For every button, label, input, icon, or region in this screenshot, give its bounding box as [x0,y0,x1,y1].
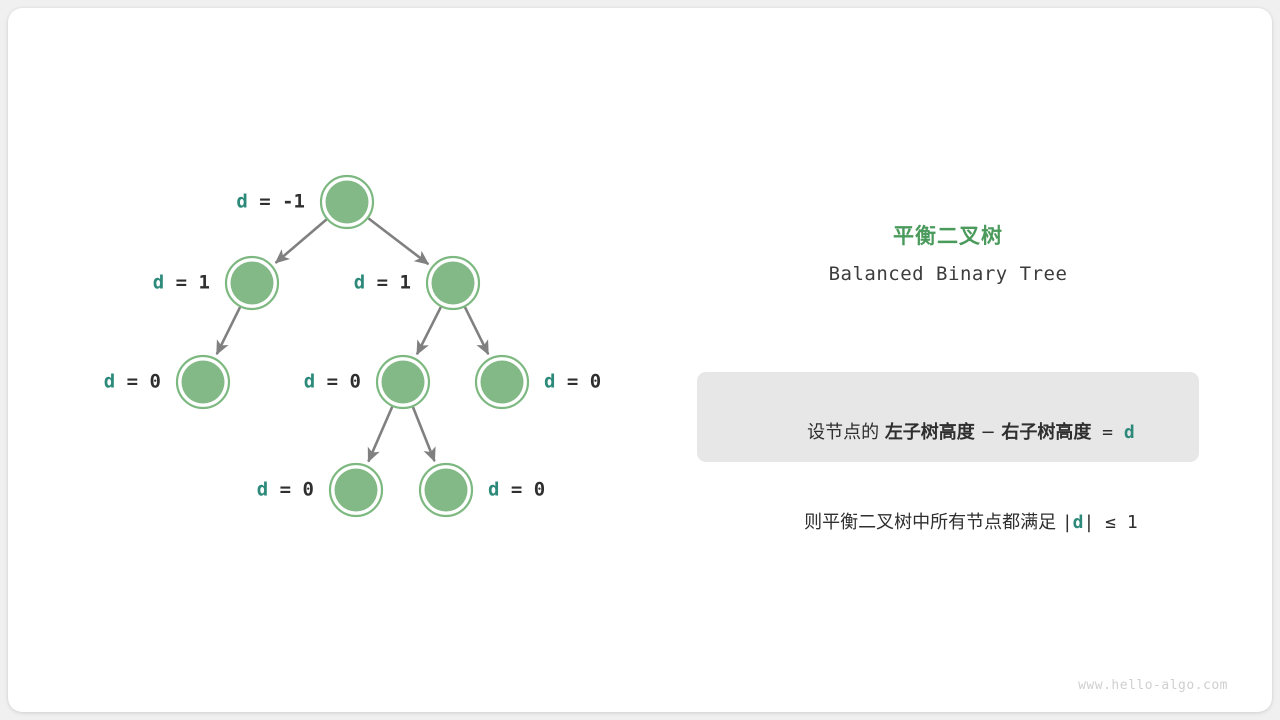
figure-card: d = -1d = 1d = 1d = 0d = 0d = 0d = 0d = … [8,8,1272,712]
definition-box: 设节点的 左子树高度 − 右子树高度 = d 则平衡二叉树中所有节点都满足 |d… [697,372,1199,462]
tree-edge [368,407,392,462]
tree-edge [417,307,441,354]
equals-operator: = [1091,422,1124,443]
tree-edge [465,307,488,354]
abs-bar-open: | [1062,512,1073,533]
tree-node[interactable] [425,469,468,512]
definition-line-2: 则平衡二叉树中所有节点都满足 |d| ≤ 1 [697,478,1199,568]
title-panel: 平衡二叉树 Balanced Binary Tree [697,222,1199,285]
constraint-prefix: 则平衡二叉树中所有节点都满足 [804,512,1062,533]
tree-node[interactable] [335,469,378,512]
tree-node[interactable] [231,262,274,305]
definition-line-1: 设节点的 左子树高度 − 右子树高度 = d [697,388,1199,478]
left-subtree-height-term: 左子树高度 [885,422,975,443]
node-balance-factor-label: d = 1 [153,274,210,293]
tree-nodes [177,176,528,516]
definition-prefix: 设节点的 [807,422,885,443]
node-balance-factor-label: d = 1 [354,274,411,293]
page-subtitle: Balanced Binary Tree [697,263,1199,285]
tree-edge [413,407,435,461]
balance-factor-symbol: d [236,191,247,213]
balance-factor-symbol: d [153,272,164,294]
node-balance-factor-label: d = 0 [257,481,314,500]
figure-stage: d = -1d = 1d = 1d = 0d = 0d = 0d = 0d = … [8,8,1272,712]
balance-factor-value: = 0 [499,479,545,501]
node-balance-factor-label: d = 0 [304,373,361,392]
tree-edge [276,220,327,263]
balance-factor-symbol: d [1124,422,1135,443]
tree-edge [217,307,240,354]
right-subtree-height-term: 右子树高度 [1001,422,1091,443]
tree-edges [217,218,488,461]
node-balance-factor-label: d = -1 [236,193,305,212]
balance-factor-symbol: d [1073,512,1084,533]
constraint-bound: ≤ 1 [1094,512,1137,533]
tree-node[interactable] [432,262,475,305]
balance-factor-value: = -1 [248,191,305,213]
balance-factor-value: = 0 [115,371,161,393]
binary-tree-diagram [8,8,1272,712]
tree-node[interactable] [182,361,225,404]
balance-factor-symbol: d [354,272,365,294]
balance-factor-symbol: d [544,371,555,393]
balance-factor-symbol: d [304,371,315,393]
tree-node[interactable] [326,181,369,224]
node-balance-factor-label: d = 0 [544,373,601,392]
node-balance-factor-label: d = 0 [104,373,161,392]
balance-factor-value: = 1 [164,272,210,294]
page-title: 平衡二叉树 [697,222,1199,250]
balance-factor-value: = 0 [555,371,601,393]
balance-factor-value: = 0 [315,371,361,393]
node-balance-factor-label: d = 0 [488,481,545,500]
tree-node[interactable] [382,361,425,404]
balance-factor-value: = 0 [268,479,314,501]
balance-factor-symbol: d [257,479,268,501]
balance-factor-value: = 1 [365,272,411,294]
abs-bar-close: | [1084,512,1095,533]
balance-factor-symbol: d [488,479,499,501]
tree-edge [368,218,428,264]
watermark: www.hello-algo.com [1078,678,1228,693]
tree-node[interactable] [481,361,524,404]
balance-factor-symbol: d [104,371,115,393]
minus-operator: − [975,422,1002,443]
